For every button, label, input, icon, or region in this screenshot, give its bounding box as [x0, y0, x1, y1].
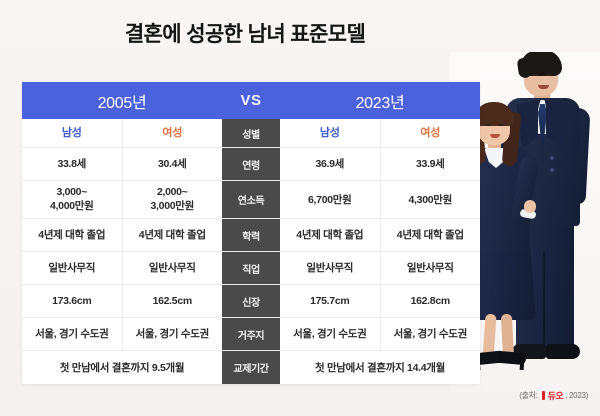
cell-2005-dating-period: 첫 만남에서 결혼까지 9.5개월 — [22, 351, 222, 384]
cell-2023-female-age: 33.9세 — [381, 148, 481, 180]
cell-2023-male-height: 175.7cm — [280, 285, 381, 317]
cell-2023-female-income: 4,300만원 — [381, 181, 481, 218]
credit-brand-name: 듀오 — [548, 389, 564, 402]
woman-right-eye — [498, 124, 504, 126]
row-label-income: 연소득 — [222, 181, 280, 218]
cell-2023-female-education: 4년제 대학 졸업 — [381, 219, 481, 251]
man-suit-button-top — [550, 156, 554, 160]
table-row-height: 173.6cm 162.5cm 신장 175.7cm 162.8cm — [22, 285, 480, 318]
header-year-2023: 2023년 — [280, 89, 480, 113]
cell-2023-female-height: 162.8cm — [381, 285, 481, 317]
row-label-occupation: 직업 — [222, 252, 280, 284]
man-left-eye — [532, 74, 538, 76]
woman-right-shoe — [498, 351, 527, 365]
infographic-canvas: 결혼에 성공한 남녀 표준모델 — [0, 0, 600, 416]
table-row-occupation: 일반사무직 일반사무직 직업 일반사무직 일반사무직 — [22, 252, 480, 285]
man-suit-button-bottom — [550, 168, 554, 172]
cell-2005-male-header: 남성 — [22, 119, 123, 147]
cell-2005-female-residence: 서울, 경기 수도권 — [123, 318, 223, 350]
duo-logo-mark-icon — [542, 391, 545, 400]
woman-left-eye — [485, 124, 491, 126]
source-credit: (출처: 듀오 , 2023) — [519, 389, 588, 402]
cell-2023-dating-period: 첫 만남에서 결혼까지 14.4개월 — [280, 351, 480, 384]
credit-prefix: (출처: — [519, 390, 537, 401]
comparison-table: 2005년 VS 2023년 남성 여성 성별 남성 여성 33.8세 30.4… — [22, 82, 480, 384]
cell-2023-female-occupation: 일반사무직 — [381, 252, 481, 284]
cell-2023-male-age: 36.9세 — [280, 148, 381, 180]
woman-hand — [524, 200, 536, 213]
row-label-residence: 거주지 — [222, 318, 280, 350]
table-row-income: 3,000~ 4,000만원 2,000~ 3,000만원 연소득 6,700만… — [22, 181, 480, 219]
table-row-dating-period: 첫 만남에서 결혼까지 9.5개월 교제기간 첫 만남에서 결혼까지 14.4개… — [22, 351, 480, 384]
cell-2023-male-income: 6,700만원 — [280, 181, 381, 218]
header-year-2005: 2005년 — [22, 89, 222, 113]
row-label-gender: 성별 — [222, 119, 280, 147]
cell-2023-male-education: 4년제 대학 졸업 — [280, 219, 381, 251]
cell-2005-female-header: 여성 — [123, 119, 223, 147]
cell-2005-female-education: 4년제 대학 졸업 — [123, 219, 223, 251]
cell-2005-male-income: 3,000~ 4,000만원 — [22, 181, 123, 218]
credit-suffix: , 2023) — [565, 391, 588, 400]
row-label-age: 연령 — [222, 148, 280, 180]
cell-2005-female-income: 2,000~ 3,000만원 — [123, 181, 223, 218]
cell-2005-male-age: 33.8세 — [22, 148, 123, 180]
cell-2005-male-height: 173.6cm — [22, 285, 123, 317]
cell-2005-male-residence: 서울, 경기 수도권 — [22, 318, 123, 350]
cell-2023-male-occupation: 일반사무직 — [280, 252, 381, 284]
man-right-eye — [546, 74, 552, 76]
cell-2023-female-header: 여성 — [381, 119, 481, 147]
row-label-height: 신장 — [222, 285, 280, 317]
row-label-education: 학력 — [222, 219, 280, 251]
man-right-shoe — [546, 344, 580, 359]
cell-2023-male-residence: 서울, 경기 수도권 — [280, 318, 381, 350]
page-title: 결혼에 성공한 남녀 표준모델 — [0, 22, 490, 48]
cell-2005-male-education: 4년제 대학 졸업 — [22, 219, 123, 251]
cell-2023-male-header: 남성 — [280, 119, 381, 147]
cell-2005-female-age: 30.4세 — [123, 148, 223, 180]
row-label-dating-period: 교제기간 — [222, 351, 280, 384]
cell-2005-female-height: 162.5cm — [123, 285, 223, 317]
man-leg-divider — [543, 252, 545, 348]
table-row-age: 33.8세 30.4세 연령 36.9세 33.9세 — [22, 148, 480, 181]
table-header-band: 2005년 VS 2023년 — [22, 82, 480, 119]
table-row-residence: 서울, 경기 수도권 서울, 경기 수도권 거주지 서울, 경기 수도권 서울,… — [22, 318, 480, 351]
cell-2023-female-residence: 서울, 경기 수도권 — [381, 318, 481, 350]
cell-2005-male-occupation: 일반사무직 — [22, 252, 123, 284]
header-vs-label: VS — [222, 92, 280, 109]
table-row-gender: 남성 여성 성별 남성 여성 — [22, 119, 480, 148]
table-row-education: 4년제 대학 졸업 4년제 대학 졸업 학력 4년제 대학 졸업 4년제 대학 … — [22, 219, 480, 252]
cell-2005-female-occupation: 일반사무직 — [123, 252, 223, 284]
